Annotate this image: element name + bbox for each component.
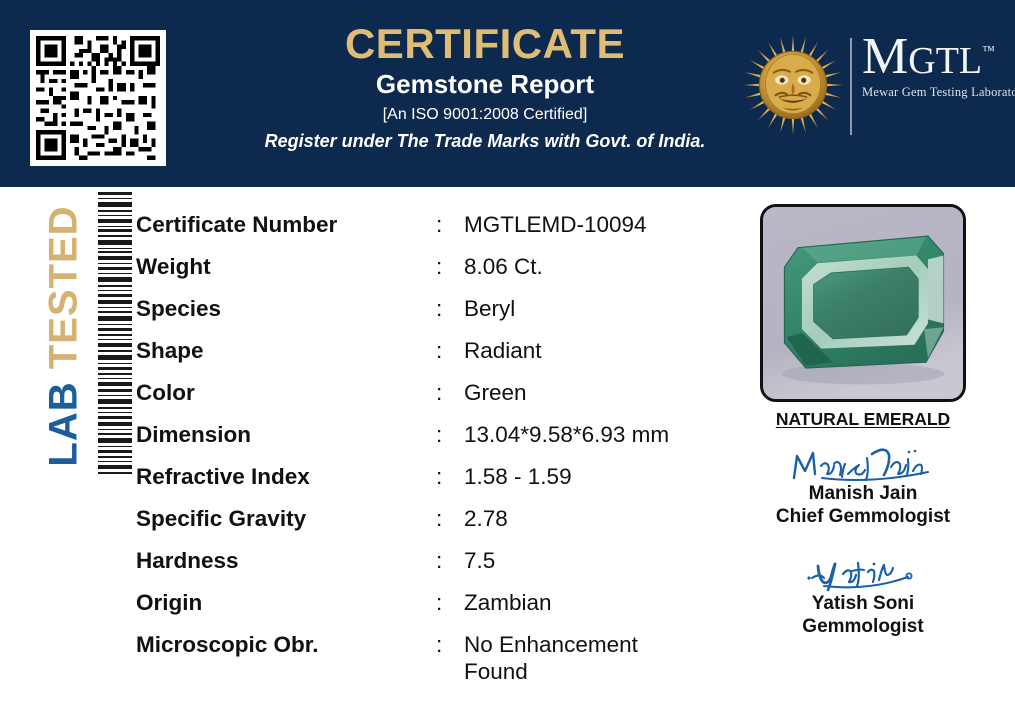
- lab-word: LAB: [42, 381, 86, 466]
- field-label: Dimension: [136, 422, 436, 449]
- field-row: Refractive Index : 1.58 - 1.59: [136, 464, 736, 506]
- field-row: Hardness : 7.5: [136, 548, 736, 590]
- field-row: Color : Green: [136, 380, 736, 422]
- gem-caption: NATURAL EMERALD: [760, 409, 966, 430]
- field-label: Shape: [136, 338, 436, 365]
- certificate-fields: Certificate Number : MGTLEMD-10094 Weigh…: [136, 212, 736, 685]
- field-row: Specific Gravity : 2.78: [136, 506, 736, 548]
- field-label: Color: [136, 380, 436, 407]
- field-label: Species: [136, 296, 436, 323]
- barcode: [98, 190, 132, 476]
- field-separator: :: [436, 296, 464, 323]
- certificate-page: CERTIFICATE Gemstone Report [An ISO 9001…: [0, 0, 1015, 707]
- title-block: CERTIFICATE Gemstone Report [An ISO 9001…: [230, 22, 740, 153]
- field-value: Zambian: [464, 590, 736, 617]
- logo-m: M: [862, 28, 908, 85]
- logo-mgtl-text: MGTL™: [862, 32, 1004, 83]
- sun-face-emblem-icon: [742, 34, 844, 139]
- field-value: Radiant: [464, 338, 736, 365]
- field-row: Species : Beryl: [136, 296, 736, 338]
- field-value: No Enhancement Found: [464, 632, 736, 685]
- field-value: 7.5: [464, 548, 736, 575]
- field-value: 8.06 Ct.: [464, 254, 736, 281]
- signatory-role: Chief Gemmologist: [748, 505, 978, 528]
- certificate-header: CERTIFICATE Gemstone Report [An ISO 9001…: [0, 0, 1015, 187]
- iso-certification-text: [An ISO 9001:2008 Certified]: [230, 105, 740, 126]
- field-value: MGTLEMD-10094: [464, 212, 736, 239]
- trademark-registration-text: Register under The Trade Marks with Govt…: [230, 130, 740, 153]
- lab-tested-badge: LAB TESTED: [40, 196, 88, 476]
- field-row: Shape : Radiant: [136, 338, 736, 380]
- logo-wordmark: MGTL™ Mewar Gem Testing Laboratory: [862, 32, 1004, 100]
- field-label: Microscopic Obr.: [136, 632, 436, 659]
- field-row: Certificate Number : MGTLEMD-10094: [136, 212, 736, 254]
- logo-gtl: GTL: [908, 40, 982, 82]
- field-label: Certificate Number: [136, 212, 436, 239]
- signature-yatish-icon: [788, 554, 938, 596]
- field-separator: :: [436, 422, 464, 449]
- field-value: 2.78: [464, 506, 736, 533]
- field-separator: :: [436, 380, 464, 407]
- field-separator: :: [436, 548, 464, 575]
- signature-block: Manish Jain Chief Gemmologist: [748, 444, 978, 528]
- field-label: Weight: [136, 254, 436, 281]
- logo-divider: [850, 38, 852, 135]
- field-separator: :: [436, 506, 464, 533]
- field-label: Origin: [136, 590, 436, 617]
- page-subtitle: Gemstone Report: [230, 68, 740, 101]
- page-title: CERTIFICATE: [230, 22, 740, 66]
- field-separator: :: [436, 212, 464, 239]
- trademark-icon: ™: [982, 43, 995, 58]
- field-label: Specific Gravity: [136, 506, 436, 533]
- field-value: 13.04*9.58*6.93 mm: [464, 422, 736, 449]
- field-row: Dimension : 13.04*9.58*6.93 mm: [136, 422, 736, 464]
- tested-word: TESTED: [42, 205, 86, 369]
- field-separator: :: [436, 464, 464, 491]
- signature-block: Yatish Soni Gemmologist: [748, 554, 978, 638]
- field-row: Microscopic Obr. : No Enhancement Found: [136, 632, 736, 685]
- field-separator: :: [436, 338, 464, 365]
- signature-manish-jain-icon: [788, 444, 938, 486]
- mgtl-logo: MGTL™ Mewar Gem Testing Laboratory: [742, 32, 1004, 144]
- qr-code[interactable]: [30, 30, 166, 166]
- field-label: Refractive Index: [136, 464, 436, 491]
- signatory-name: Yatish Soni: [748, 592, 978, 615]
- field-row: Origin : Zambian: [136, 590, 736, 632]
- signatory-role: Gemmologist: [748, 615, 978, 638]
- logo-tagline: Mewar Gem Testing Laboratory: [862, 85, 1004, 100]
- field-value: Green: [464, 380, 736, 407]
- field-label: Hardness: [136, 548, 436, 575]
- field-row: Weight : 8.06 Ct.: [136, 254, 736, 296]
- signatory-name: Manish Jain: [748, 482, 978, 505]
- field-separator: :: [436, 590, 464, 617]
- field-value: Beryl: [464, 296, 736, 323]
- field-separator: :: [436, 254, 464, 281]
- lab-tested-label: LAB TESTED: [42, 205, 87, 466]
- field-separator: :: [436, 632, 464, 659]
- field-value: 1.58 - 1.59: [464, 464, 736, 491]
- gemstone-photo: [760, 204, 966, 402]
